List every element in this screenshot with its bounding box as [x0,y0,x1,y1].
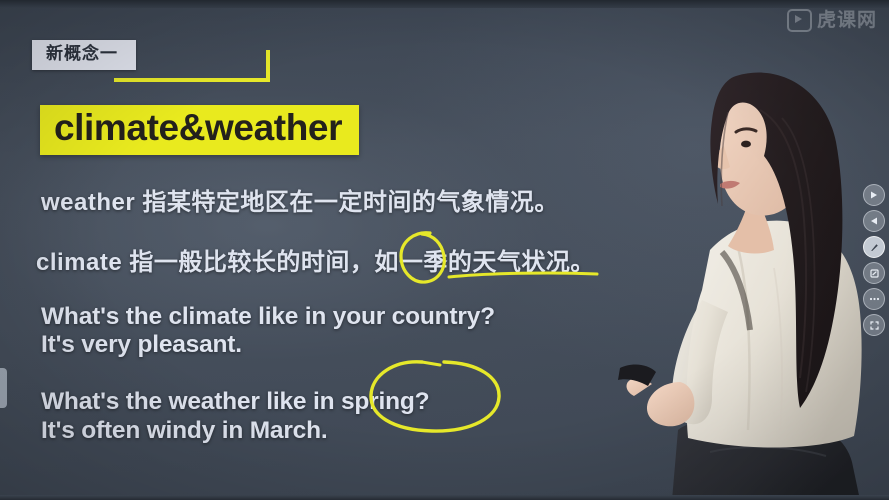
presenter-eye [741,141,751,148]
more-button[interactable] [863,288,885,310]
slide-title: climate&weather [54,107,342,148]
watermark-text: 虎课网 [817,11,877,30]
top-letterbox-strip [0,0,889,8]
lesson-line-en-2: It's very pleasant. [41,331,242,359]
expand-icon [870,321,879,330]
lesson-line-cn-1: weather 指某特定地区在一定时间的气象情况。 [41,182,559,217]
ellipsis-icon [869,297,880,301]
play-logo-icon [787,9,812,32]
lesson-line-en-3: What's the weather like in spring? [41,388,429,416]
site-watermark: 虎课网 [787,9,877,32]
video-player-frame: 新概念一 climate&weather weather 指某特定地区在一定时间… [0,0,889,500]
badge-label: 新概念一 [46,44,118,63]
presenter-hand [647,382,694,426]
control-rail [859,184,889,336]
brush-button[interactable] [863,236,885,258]
brush-icon [869,242,880,253]
play-icon [870,191,878,199]
lesson-line-cn-2: climate 指一般比较长的时间，如一季的天气状况。 [36,242,595,277]
note-icon [870,269,879,278]
fullscreen-button[interactable] [863,314,885,336]
presenter-figure [560,0,889,500]
lesson-line-en-4: It's often windy in March. [41,417,327,445]
drawer-handle[interactable] [0,368,7,408]
slide-title-highlight: climate&weather [40,105,359,155]
caret-left-icon [870,217,878,225]
lesson-line-en-1: What's the climate like in your country? [41,303,495,331]
lesson-badge: 新概念一 [32,40,242,75]
badge-bracket-accent [114,50,270,82]
bottom-letterbox-strip [0,495,889,500]
previous-button[interactable] [863,210,885,232]
play-button[interactable] [863,184,885,206]
note-button[interactable] [863,262,885,284]
badge-box: 新概念一 [32,40,136,70]
